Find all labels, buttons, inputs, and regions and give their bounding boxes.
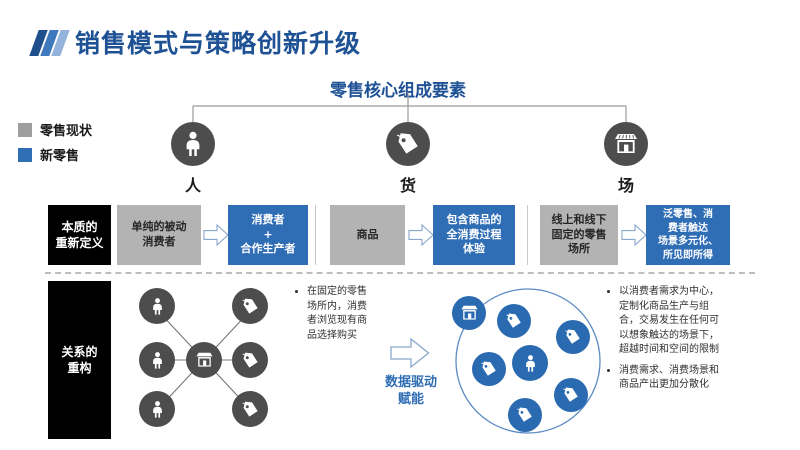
price-tag-icon [554, 378, 588, 412]
new-box-person-line3: 合作生产者 [241, 242, 296, 257]
new-box-place-line3: 场景多元化、 [658, 235, 718, 249]
column-divider-1 [315, 205, 316, 265]
current-box-person: 单纯的被动 消费者 [117, 205, 201, 265]
node-goods: 货 [386, 122, 430, 196]
slash-logo-icon [34, 30, 65, 56]
slide-title-row: 销售模式与策略创新升级 [34, 30, 361, 56]
current-box-place-line1: 线上和线下 [552, 213, 607, 228]
current-box-person-line2: 消费者 [143, 235, 176, 250]
price-tag-icon [232, 391, 268, 427]
node-label-person: 人 [171, 172, 215, 196]
data-driven-label-line2: 赋能 [366, 392, 456, 409]
person-icon [139, 288, 175, 324]
person-icon [512, 345, 548, 381]
data-driven-label-line1: 数据驱动 [366, 375, 456, 392]
node-place: 场 [604, 122, 648, 196]
legend-item-current: 零售现状 [18, 120, 92, 139]
node-person: 人 [171, 122, 215, 196]
new-box-goods-line3: 体验 [463, 242, 485, 257]
legend-label-new: 新零售 [40, 145, 79, 164]
price-tag-icon [232, 288, 268, 324]
section-divider [45, 272, 755, 274]
person-icon [171, 122, 215, 166]
page-title: 销售模式与策略创新升级 [75, 31, 361, 56]
section-label-redefine: 本质的 重新定义 [48, 205, 111, 265]
new-box-place: 泛零售、消 费者触达 场景多元化、 所见即所得 [646, 205, 730, 265]
new-box-person: 消费者 + 合作生产者 [228, 205, 308, 265]
list-item: 以消费者需求为中心，定制化商品生产与组合，交易发生在任何可以想象触达的场景下，超… [619, 285, 720, 358]
node-label-place: 场 [604, 172, 648, 196]
list-item: 消费需求、消费场景和商品产出更加分散化 [619, 364, 720, 393]
section-label-relationship: 关系的 重构 [48, 281, 111, 439]
new-box-person-line1: 消费者 [252, 213, 285, 228]
slide-canvas: 销售模式与策略创新升级 零售核心组成要素 零售现状 新零售 人 [0, 0, 800, 450]
arrow-right-icon [390, 336, 430, 370]
new-box-person-line2: + [263, 228, 272, 243]
store-icon [604, 122, 648, 166]
gray-swatch-icon [18, 123, 32, 137]
section-label-relationship-line1: 关系的 [61, 344, 97, 360]
new-box-place-line2: 费者触达 [668, 222, 708, 236]
blue-swatch-icon [18, 148, 32, 162]
price-tag-icon [497, 304, 531, 338]
section-label-relationship-line2: 重构 [67, 360, 91, 376]
price-tag-icon [472, 352, 506, 386]
new-box-place-line4: 所见即所得 [663, 249, 713, 263]
left-bullet-list: 在固定的零售场所内，消费者浏览现有商品选择购买 [296, 285, 376, 349]
new-box-goods-line1: 包含商品的 [447, 213, 502, 228]
arrow-right-icon [621, 222, 647, 248]
current-box-place-line3: 场所 [568, 242, 590, 257]
store-icon [452, 296, 486, 330]
current-box-goods-line1: 商品 [357, 228, 379, 243]
legend-label-current: 零售现状 [40, 120, 92, 139]
node-label-goods: 货 [386, 172, 430, 196]
arrow-right-icon [203, 222, 229, 248]
current-box-goods: 商品 [330, 205, 405, 265]
price-tag-icon [508, 398, 542, 432]
arrow-right-icon [408, 222, 434, 248]
person-icon [139, 391, 175, 427]
right-bullet-list: 以消费者需求为中心，定制化商品生产与组合，交易发生在任何可以想象触达的场景下，超… [608, 285, 720, 399]
new-box-goods: 包含商品的 全消费过程 体验 [433, 205, 515, 265]
column-divider-2 [527, 205, 528, 265]
section-label-redefine-line1: 本质的 [61, 219, 97, 235]
current-box-place: 线上和线下 固定的零售 场所 [540, 205, 618, 265]
data-driven-label: 数据驱动 赋能 [366, 375, 456, 409]
list-item: 在固定的零售场所内，消费者浏览现有商品选择购买 [307, 285, 376, 343]
person-icon [139, 342, 175, 378]
section-label-redefine-line2: 重新定义 [55, 235, 103, 251]
new-box-goods-line2: 全消费过程 [447, 228, 502, 243]
legend-item-new: 新零售 [18, 145, 92, 164]
new-box-place-line1: 泛零售、消 [663, 208, 713, 222]
current-box-place-line2: 固定的零售 [552, 228, 607, 243]
price-tag-icon [386, 122, 430, 166]
price-tag-icon [556, 320, 590, 354]
price-tag-icon [232, 342, 268, 378]
current-box-person-line1: 单纯的被动 [132, 220, 187, 235]
store-icon [186, 342, 222, 378]
legend: 零售现状 新零售 [18, 120, 92, 170]
